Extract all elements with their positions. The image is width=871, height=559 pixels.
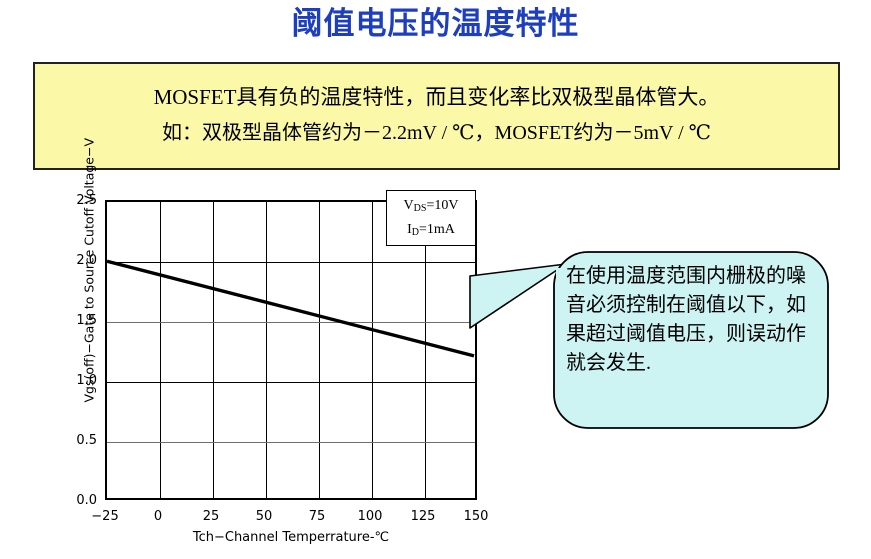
condition-id: ID=1mA <box>387 222 475 238</box>
x-tick-label: 25 <box>188 510 234 523</box>
y-axis-title: Vgs(off)−Gate to Source Cutoff Voltage−V <box>82 143 97 403</box>
x-tick-label: 125 <box>400 510 446 523</box>
page-title: 阈值电压的温度特性 <box>0 4 871 44</box>
callout-text: 在使用温度范围内栅极的噪音必须控制在阈值以下，如果超过阈值电压，则误动作就会发生… <box>566 262 816 378</box>
x-axis-title: Tch−Channel Temperrature-℃ <box>105 530 477 545</box>
vds-value: =10V <box>426 198 458 213</box>
statement-line-2: 如：双极型晶体管约为－2.2mV / ℃，MOSFET约为－5mV / ℃ <box>35 120 838 146</box>
x-tick-label: 75 <box>294 510 340 523</box>
statement-box: MOSFET具有负的温度特性，而且变化率比双极型晶体管大。 如：双极型晶体管约为… <box>33 62 840 170</box>
test-conditions-box: VDS=10V ID=1mA <box>386 190 476 246</box>
x-tick-label: 0 <box>135 510 181 523</box>
x-tick-label: −25 <box>82 510 128 523</box>
id-value: =1mA <box>419 222 455 237</box>
vds-subscript: DS <box>414 203 427 214</box>
condition-vds: VDS=10V <box>387 198 475 214</box>
slide-canvas: 阈值电压的温度特性 MOSFET具有负的温度特性，而且变化率比双极型晶体管大。 … <box>0 0 871 559</box>
vds-symbol: V <box>404 198 414 213</box>
x-tick-label: 100 <box>347 510 393 523</box>
trend-line <box>107 202 475 498</box>
y-tick-label: 0.5 <box>57 434 97 447</box>
callout-bubble: 在使用温度范围内栅极的噪音必须控制在阈值以下，如果超过阈值电压，则误动作就会发生… <box>466 248 832 432</box>
statement-line-1: MOSFET具有负的温度特性，而且变化率比双极型晶体管大。 <box>35 84 838 110</box>
y-tick-label: 0.0 <box>57 494 97 507</box>
id-subscript: D <box>412 227 419 238</box>
x-tick-label: 50 <box>241 510 287 523</box>
x-tick-label: 150 <box>453 510 499 523</box>
